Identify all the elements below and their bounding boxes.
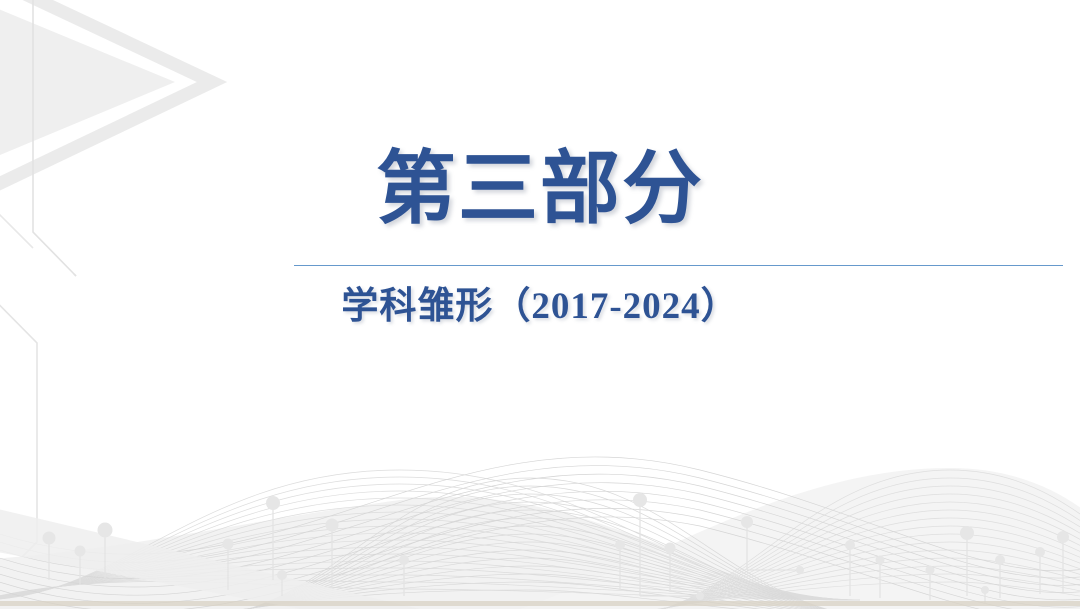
wave-mesh-center: [180, 478, 900, 609]
pin-marker-icon: [1035, 547, 1045, 557]
pin-marker-icon: [277, 570, 287, 580]
pin-marker-group: [49, 500, 1063, 604]
pin-dot-group: [43, 493, 1070, 600]
wave-ribbon-band: [0, 457, 1080, 609]
pin-marker-icon: [926, 566, 935, 575]
page-title: 第三部分: [0, 150, 1080, 230]
pin-marker-icon: [75, 546, 86, 557]
divider-line: [294, 265, 1063, 266]
pin-marker-icon: [960, 526, 974, 540]
title-divider: [294, 265, 1063, 267]
footer-strip: [0, 601, 1080, 606]
page-subtitle: 学科雏形（2017-2024）: [0, 286, 1080, 329]
pin-marker-icon: [399, 555, 409, 565]
wave-fill-left: [0, 497, 860, 609]
wave-mesh-left: [0, 470, 860, 600]
wave-fill-right: [520, 468, 1080, 609]
pin-marker-icon: [876, 556, 885, 565]
wave-mesh-right: [600, 470, 1080, 609]
pin-marker-icon: [633, 493, 647, 507]
chevron-line-upper-icon: [33, 0, 76, 276]
pin-marker-icon: [665, 543, 676, 554]
pin-marker-icon: [981, 586, 989, 594]
title-block: 第三部分 学科雏形（2017-2024）: [0, 150, 1080, 230]
pin-marker-icon: [696, 592, 704, 600]
wave-diagonal-band: [0, 500, 420, 609]
pin-marker-icon: [995, 555, 1005, 565]
chevron-line-upper-tail-icon: [74, 274, 76, 276]
pin-marker-icon: [1057, 531, 1069, 543]
pin-marker-icon: [266, 496, 280, 510]
pin-marker-icon: [43, 532, 56, 545]
pin-marker-icon: [845, 540, 855, 550]
pin-marker-icon: [741, 516, 753, 528]
pin-marker-icon: [98, 523, 113, 538]
pin-marker-icon: [223, 539, 234, 550]
presentation-slide: 第三部分 学科雏形（2017-2024）: [0, 0, 1080, 609]
pin-marker-icon: [326, 519, 339, 532]
pin-marker-icon: [615, 540, 625, 550]
pin-marker-icon: [796, 566, 804, 574]
